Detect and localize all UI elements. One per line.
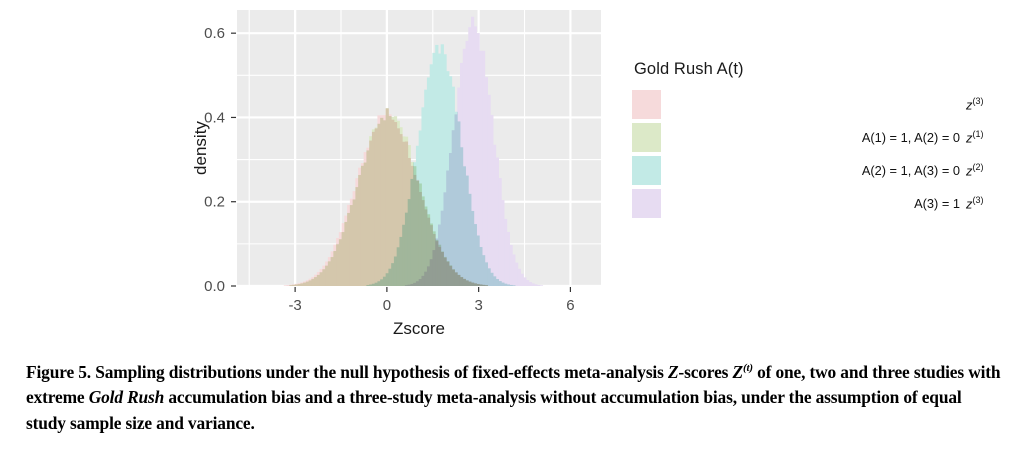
legend-item-nobias-three-study[interactable]: z(3): [632, 88, 1012, 121]
legend-key-symbol: z(1): [966, 129, 1012, 145]
x-axis-title: Zscore: [393, 319, 445, 338]
y-tick-label: 0.2: [204, 194, 225, 211]
legend-items: z(3)A(1) = 1, A(2) = 0z(1)A(2) = 1, A(3)…: [632, 88, 1012, 220]
legend-key-symbol: z(3): [966, 96, 1012, 112]
legend-swatch-three-study: [632, 189, 661, 218]
x-tick-label: 0: [383, 297, 391, 314]
legend-label: A(1) = 1, A(2) = 0: [661, 130, 966, 145]
legend-title: Gold Rush A(t): [634, 60, 1012, 79]
legend-item-one-study[interactable]: A(1) = 1, A(2) = 0z(1): [632, 121, 1012, 154]
legend-item-three-study[interactable]: A(3) = 1z(3): [632, 187, 1012, 220]
legend-label: A(3) = 1: [661, 196, 966, 211]
y-tick-label: 0.6: [204, 25, 225, 42]
figure-caption: Figure 5. Sampling distributions under t…: [26, 356, 1002, 436]
figure-page: -30360.00.20.40.6 Zscore density Gold Ru…: [0, 0, 1022, 473]
y-tick-label: 0.0: [204, 278, 225, 295]
legend-key-symbol: z(3): [966, 195, 1012, 211]
legend-swatch-one-study: [632, 123, 661, 152]
x-tick-label: 3: [474, 297, 482, 314]
x-tick-label: -3: [288, 297, 301, 314]
plot-legend: Gold Rush A(t) z(3)A(1) = 1, A(2) = 0z(1…: [632, 60, 1012, 220]
x-tick-label: 6: [566, 297, 574, 314]
legend-label: A(2) = 1, A(3) = 0: [661, 163, 966, 178]
legend-item-two-study[interactable]: A(2) = 1, A(3) = 0z(2): [632, 154, 1012, 187]
y-axis-title: density: [191, 121, 210, 175]
density-plot-figure: -30360.00.20.40.6 Zscore density Gold Ru…: [0, 0, 1022, 348]
legend-swatch-nobias-three-study: [632, 90, 661, 119]
legend-swatch-two-study: [632, 156, 661, 185]
legend-key-symbol: z(2): [966, 162, 1012, 178]
